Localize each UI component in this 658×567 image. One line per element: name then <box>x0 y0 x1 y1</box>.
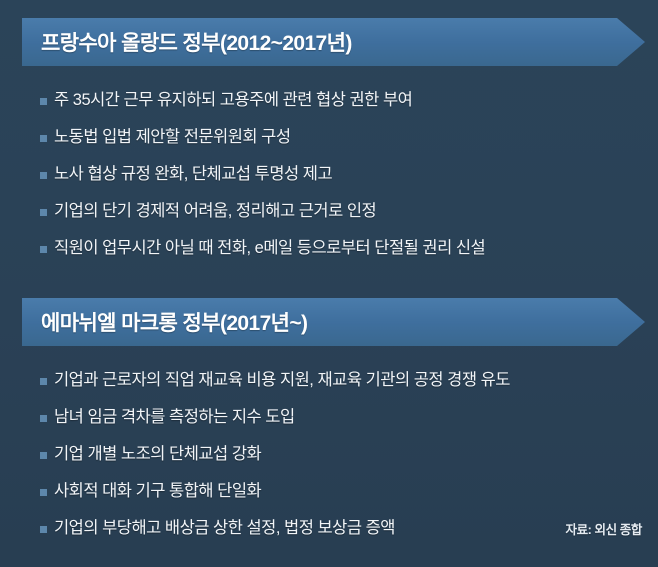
list-item-label: 기업과 근로자의 직업 재교육 비용 지원, 재교육 기관의 공정 경쟁 유도 <box>54 372 510 389</box>
square-bullet-icon <box>40 209 47 216</box>
square-bullet-icon <box>40 489 47 496</box>
list-item: 노사 협상 규정 완화, 단체교섭 투명성 제고 <box>0 156 658 193</box>
list-item: 직원이 업무시간 아닐 때 전화, e메일 등으로부터 단절될 권리 신설 <box>0 230 658 267</box>
infographic-root: 프랑수아 올랑드 정부(2012~2017년) 주 35시간 근무 유지하되 고… <box>0 0 658 567</box>
square-bullet-icon <box>40 526 47 533</box>
list-item: 기업 개별 노조의 단체교섭 강화 <box>0 436 658 473</box>
square-bullet-icon <box>40 135 47 142</box>
square-bullet-icon <box>40 378 47 385</box>
section-hollande: 프랑수아 올랑드 정부(2012~2017년) <box>0 18 658 66</box>
section-macron: 에마뉘엘 마크롱 정부(2017년~) <box>0 298 658 346</box>
list-item: 남녀 임금 격차를 측정하는 지수 도입 <box>0 399 658 436</box>
list-item-label: 기업 개별 노조의 단체교섭 강화 <box>54 446 261 463</box>
bullet-list-hollande: 주 35시간 근무 유지하되 고용주에 관련 협상 권한 부여 노동법 입법 제… <box>0 82 658 267</box>
square-bullet-icon <box>40 172 47 179</box>
square-bullet-icon <box>40 246 47 253</box>
list-item-label: 노사 협상 규정 완화, 단체교섭 투명성 제고 <box>54 166 332 183</box>
section-title-macron: 에마뉘엘 마크롱 정부(2017년~) <box>22 307 307 337</box>
list-item-label: 주 35시간 근무 유지하되 고용주에 관련 협상 권한 부여 <box>54 92 412 109</box>
list-item: 기업의 단기 경제적 어려움, 정리해고 근거로 인정 <box>0 193 658 230</box>
list-item-label: 남녀 임금 격차를 측정하는 지수 도입 <box>54 409 295 426</box>
source-note: 자료: 외신 종합 <box>565 519 642 538</box>
list-item-label: 사회적 대화 기구 통합해 단일화 <box>54 483 261 500</box>
list-item: 기업과 근로자의 직업 재교육 비용 지원, 재교육 기관의 공정 경쟁 유도 <box>0 362 658 399</box>
square-bullet-icon <box>40 452 47 459</box>
list-item: 기업의 부당해고 배상금 상한 설정, 법정 보상금 증액 <box>0 510 658 547</box>
list-item: 사회적 대화 기구 통합해 단일화 <box>0 473 658 510</box>
list-item-label: 노동법 입법 제안할 전문위원회 구성 <box>54 129 291 146</box>
list-item-label: 기업의 단기 경제적 어려움, 정리해고 근거로 인정 <box>54 203 376 220</box>
bullet-list-macron: 기업과 근로자의 직업 재교육 비용 지원, 재교육 기관의 공정 경쟁 유도 … <box>0 362 658 547</box>
list-item: 노동법 입법 제안할 전문위원회 구성 <box>0 119 658 156</box>
list-item: 주 35시간 근무 유지하되 고용주에 관련 협상 권한 부여 <box>0 82 658 119</box>
list-item-label: 직원이 업무시간 아닐 때 전화, e메일 등으로부터 단절될 권리 신설 <box>54 240 485 257</box>
square-bullet-icon <box>40 415 47 422</box>
list-item-label: 기업의 부당해고 배상금 상한 설정, 법정 보상금 증액 <box>54 520 395 537</box>
section-banner-macron: 에마뉘엘 마크롱 정부(2017년~) <box>22 298 645 346</box>
section-title-hollande: 프랑수아 올랑드 정부(2012~2017년) <box>22 27 352 57</box>
square-bullet-icon <box>40 98 47 105</box>
section-banner-hollande: 프랑수아 올랑드 정부(2012~2017년) <box>22 18 645 66</box>
